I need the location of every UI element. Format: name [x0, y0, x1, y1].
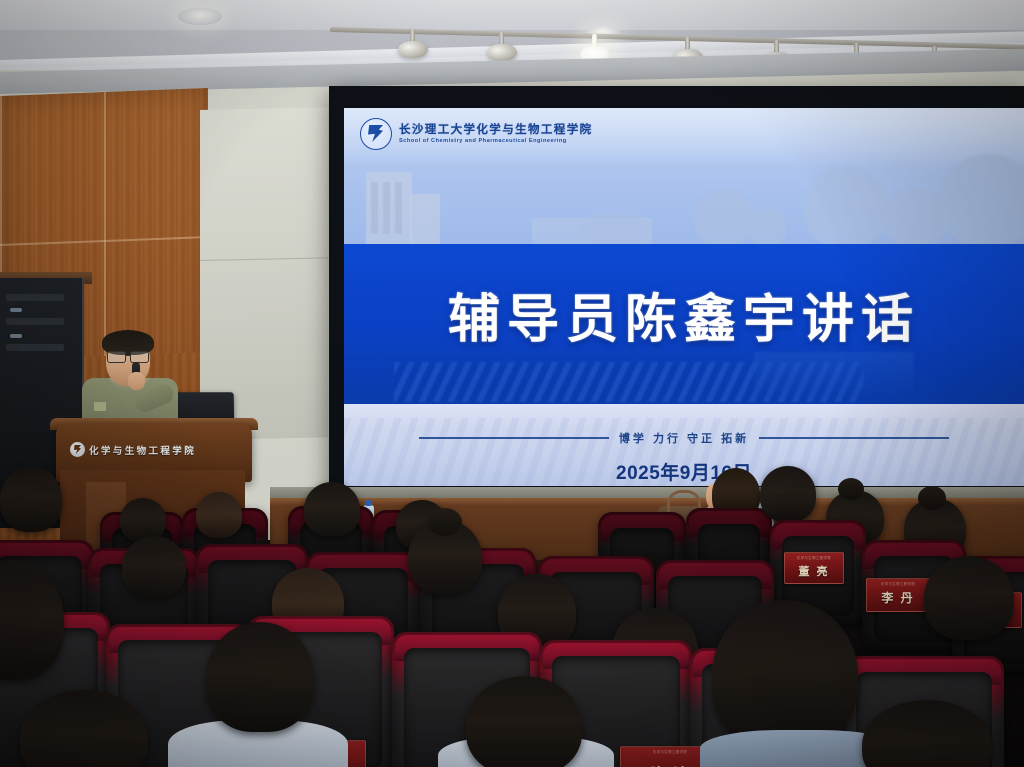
- audience-head: [122, 536, 186, 598]
- audience-head: [712, 600, 858, 750]
- projection-screen: 长沙理工大学化学与生物工程学院 School of Chemistry and …: [344, 108, 1024, 486]
- slide-date: 2025年9月16日: [344, 458, 1024, 485]
- seat-placard: 化学与生物工程学院 董 亮: [784, 552, 844, 584]
- wall-light-panel: [200, 107, 328, 440]
- podium-logo-lockup: 化学与生物工程学院: [70, 442, 196, 457]
- audience-head: [196, 492, 242, 538]
- speaker-badge: [94, 402, 106, 411]
- slide-photo-tree: [694, 190, 754, 246]
- slide-logo-cn: 长沙理工大学化学与生物工程学院: [399, 124, 593, 137]
- slide-motto-row: 博学 力行 守正 拓新: [344, 430, 1024, 446]
- placard-name: 李 丹: [881, 589, 914, 606]
- eyeglasses-icon: [106, 351, 150, 361]
- placard-name: 董 亮: [798, 563, 829, 579]
- motto-rule-left: [419, 437, 609, 439]
- slide-photo-tree: [884, 188, 948, 246]
- audience-hair-bun: [428, 508, 462, 536]
- motto-rule-right: [759, 437, 949, 439]
- audience-head: [924, 556, 1014, 640]
- placard-subtitle: 化学与生物工程学院: [867, 581, 929, 586]
- slide-title: 辅导员陈鑫宇讲话: [344, 294, 1024, 346]
- audience-head: [760, 466, 816, 522]
- slide-photo-tree: [580, 212, 650, 246]
- slide-logo-en: School of Chemistry and Pharmaceutical E…: [399, 138, 593, 144]
- podium-sign-text: 化学与生物工程学院: [89, 443, 196, 457]
- audience-head: [466, 676, 582, 767]
- audience-hair-bun: [918, 486, 946, 510]
- auditorium-photo-scene: 长沙理工大学化学与生物工程学院 School of Chemistry and …: [0, 0, 1024, 767]
- speaker-hand: [128, 372, 145, 390]
- recessed-ceiling-light-icon: [178, 8, 222, 25]
- slide-school-logo: 长沙理工大学化学与生物工程学院 School of Chemistry and …: [360, 118, 593, 150]
- slide-motto: 博学 力行 守正 拓新: [619, 430, 749, 446]
- track-spotlight-icon: [398, 29, 428, 63]
- placard-subtitle: 化学与生物工程学院: [785, 555, 843, 560]
- slide-photo-tree: [940, 154, 1024, 246]
- slide-photo-tree: [804, 168, 888, 246]
- ceiling-far-plane: [0, 0, 1024, 30]
- audience-head: [120, 498, 166, 542]
- seat-placard: 化学与生物工程学院 李 丹: [866, 578, 930, 612]
- audience-head: [0, 466, 62, 532]
- slide-photo-building: [366, 172, 412, 246]
- slide-photo-tree: [748, 208, 786, 246]
- slide-photo-building: [410, 194, 440, 246]
- audience-head: [206, 622, 314, 732]
- audience-hair-bun: [838, 478, 864, 500]
- placard-name: 陈 洁: [650, 763, 690, 767]
- school-crest-icon: [360, 118, 392, 150]
- school-crest-icon: [70, 442, 85, 457]
- audience-head: [304, 482, 360, 536]
